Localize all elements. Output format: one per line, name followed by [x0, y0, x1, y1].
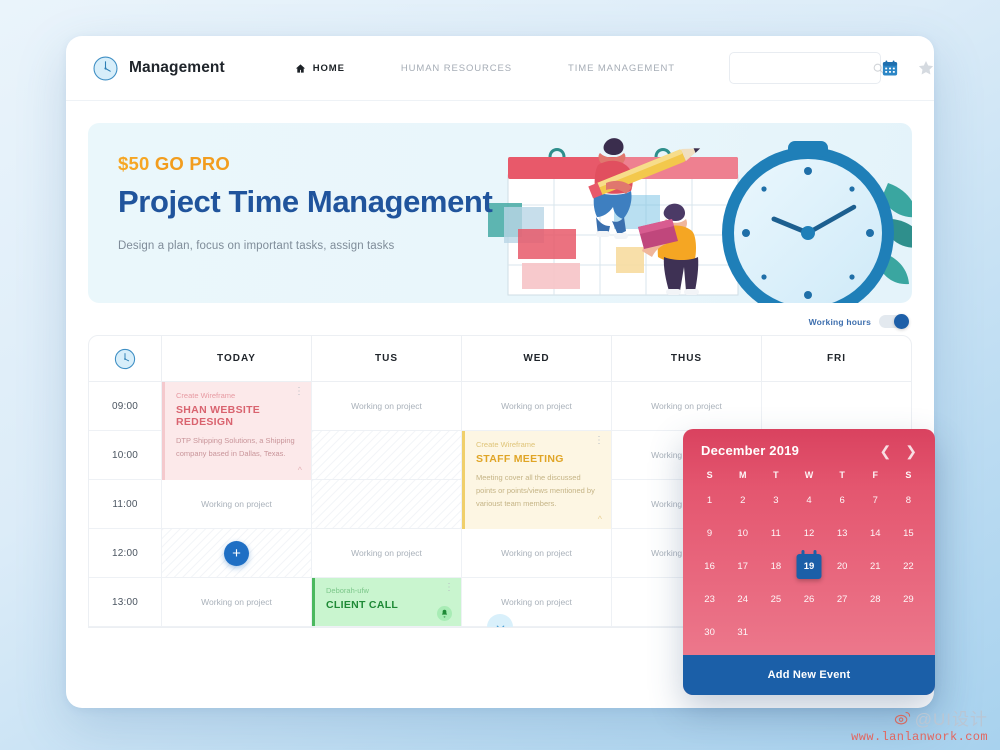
brand-name: Management — [129, 59, 225, 77]
add-event-button[interactable]: + — [224, 541, 249, 566]
time-label: 13:00 — [89, 578, 161, 626]
selected-day-box: 19 — [796, 554, 821, 579]
calendar-day[interactable]: 10 — [726, 525, 759, 543]
slot-tus-1200[interactable]: Working on project — [311, 529, 461, 577]
calendar-day[interactable]: 12 — [792, 525, 825, 543]
schedule-col-tus[interactable]: TUS — [311, 336, 461, 381]
calendar-day[interactable]: 8 — [892, 492, 925, 510]
dow-thu: T — [826, 470, 859, 480]
chevron-up-icon[interactable]: ^ — [598, 514, 602, 524]
dow-fri: F — [859, 470, 892, 480]
kebab-icon[interactable]: ⋮ — [294, 389, 304, 395]
calendar-day[interactable]: 23 — [693, 591, 726, 609]
nav-item-time-management[interactable]: TIME MANAGEMENT — [540, 63, 703, 74]
calendar-day[interactable]: 18 — [759, 558, 792, 576]
dow-sun: S — [693, 470, 726, 480]
nav-item-human-resources[interactable]: HUMAN RESOURCES — [373, 63, 540, 74]
schedule-col-fri[interactable]: FRI — [761, 336, 911, 381]
time-label: 09:00 — [89, 382, 161, 430]
calendar-day[interactable]: 9 — [693, 525, 726, 543]
calendar-day[interactable]: 21 — [859, 558, 892, 576]
event-staff-meeting[interactable]: ⋮ Create Wireframe STAFF MEETING Meeting… — [462, 431, 611, 529]
selected-day-number: 19 — [804, 558, 815, 576]
event-title: SHAN WEBSITE REDESIGN — [176, 404, 301, 428]
watermark-top-text: @UI设计 — [915, 705, 988, 730]
calendar-day[interactable]: 17 — [726, 558, 759, 576]
calendar-week-row: 1 2 3 4 6 7 8 — [683, 490, 935, 523]
bell-icon[interactable] — [437, 606, 452, 621]
slot-thus-0900[interactable]: Working on project — [611, 382, 761, 430]
time-label: 11:00 — [89, 480, 161, 528]
chevron-right-icon[interactable]: ❯ — [905, 444, 917, 458]
schedule-col-today[interactable]: TODAY — [161, 336, 311, 381]
slot-fri-0900[interactable] — [761, 382, 911, 430]
main-nav: HOME HUMAN RESOURCES TIME MANAGEMENT — [267, 63, 703, 74]
toggle-knob — [894, 314, 909, 329]
nav-item-home-label: HOME — [313, 63, 345, 74]
search-input[interactable] — [740, 63, 872, 74]
hero-price: $50 — [118, 153, 149, 174]
calendar-day[interactable]: 30 — [693, 624, 726, 642]
calendar-day[interactable]: 6 — [826, 492, 859, 510]
slot-tus-1300[interactable]: ⋮ Deborah-ufw CLIENT CALL — [311, 578, 461, 626]
slot-tus-0900[interactable]: Working on project — [311, 382, 461, 430]
slot-wed-1200[interactable]: Working on project — [461, 529, 611, 577]
calendar-day[interactable]: 29 — [892, 591, 925, 609]
clock-icon — [113, 347, 137, 371]
schedule-header-row: TODAY TUS WED THUS FRI — [89, 336, 911, 382]
app-header: Management HOME HUMAN RESOURCES TIME MAN… — [66, 36, 934, 101]
calendar-title: December 2019 — [701, 443, 799, 458]
hero-kicker: $50 GO PRO — [118, 153, 492, 175]
chevron-up-icon[interactable]: ^ — [298, 465, 302, 475]
working-hours-label: Working hours — [809, 317, 871, 327]
slot-tus-1000[interactable] — [311, 431, 461, 479]
calendar-day[interactable]: 24 — [726, 591, 759, 609]
event-client-call[interactable]: ⋮ Deborah-ufw CLIENT CALL — [312, 578, 461, 626]
slot-tus-1100[interactable] — [311, 480, 461, 528]
calendar-day[interactable]: 1 — [693, 492, 726, 510]
hero-text: $50 GO PRO Project Time Management Desig… — [118, 153, 492, 252]
calendar-icon[interactable] — [881, 59, 899, 77]
calendar-day[interactable]: 13 — [826, 525, 859, 543]
calendar-day[interactable]: 31 — [726, 624, 759, 642]
hero-banner: $50 GO PRO Project Time Management Desig… — [88, 123, 912, 303]
slot-today-0900[interactable]: ⋮ Create Wireframe SHAN WEBSITE REDESIGN… — [161, 382, 311, 430]
schedule-clock-cell — [89, 336, 161, 381]
time-label: 12:00 — [89, 529, 161, 577]
time-label: 10:00 — [89, 431, 161, 479]
chevron-left-icon[interactable]: ❮ — [880, 444, 892, 458]
calendar-header: December 2019 ❮ ❯ — [683, 429, 935, 470]
search-box[interactable] — [729, 52, 881, 84]
slot-wed-1300[interactable]: Working on project — [461, 578, 611, 626]
kebab-icon[interactable]: ⋮ — [594, 438, 604, 444]
home-icon — [295, 63, 306, 74]
calendar-weekday-row: S M T W T F S — [683, 470, 935, 490]
calendar-day[interactable]: 2 — [726, 492, 759, 510]
slot-today-1200[interactable]: + — [161, 529, 311, 577]
calendar-navs: ❮ ❯ — [880, 444, 917, 458]
brand[interactable]: Management — [92, 55, 225, 82]
calendar-day[interactable]: 20 — [826, 558, 859, 576]
time-management-illustration — [488, 123, 912, 303]
hero-title: Project Time Management — [118, 184, 492, 220]
slot-today-1100[interactable]: Working on project — [161, 480, 311, 528]
calendar-day[interactable]: 25 — [759, 591, 792, 609]
calendar-day[interactable]: 7 — [859, 492, 892, 510]
calendar-day[interactable]: 11 — [759, 525, 792, 543]
slot-wed-1000[interactable]: ⋮ Create Wireframe STAFF MEETING Meeting… — [461, 431, 611, 479]
header-actions — [881, 54, 934, 83]
dow-tue: T — [759, 470, 792, 480]
dow-wed: W — [792, 470, 825, 480]
calendar-day[interactable]: 16 — [693, 558, 726, 576]
kebab-icon[interactable]: ⋮ — [444, 585, 454, 591]
event-subtitle: Create Wireframe — [476, 440, 601, 449]
watermark-top: @UI设计 — [851, 705, 988, 730]
calendar-day[interactable]: 28 — [859, 591, 892, 609]
schedule-col-thus[interactable]: THUS — [611, 336, 761, 381]
event-shan-website-redesign[interactable]: ⋮ Create Wireframe SHAN WEBSITE REDESIGN… — [162, 382, 311, 480]
calendar-day[interactable]: 26 — [792, 591, 825, 609]
hero-pro-label: GO PRO — [155, 153, 230, 174]
calendar-day[interactable]: 27 — [826, 591, 859, 609]
event-description: Meeting cover all the discussed points o… — [476, 471, 601, 510]
event-title: STAFF MEETING — [476, 453, 601, 465]
dow-sat: S — [892, 470, 925, 480]
add-new-event-button[interactable]: Add New Event — [683, 655, 935, 695]
watermark: @UI设计 www.lanlanwork.com — [851, 705, 988, 744]
schedule-col-wed[interactable]: WED — [461, 336, 611, 381]
event-subtitle: Create Wireframe — [176, 391, 301, 400]
calendar-day[interactable]: 22 — [892, 558, 925, 576]
event-description: DTP Shipping Solutions, a Shipping compa… — [176, 434, 301, 460]
star-icon[interactable] — [917, 59, 934, 77]
calendar-popover: December 2019 ❮ ❯ S M T W T F S 1 2 3 4 … — [683, 429, 935, 695]
weibo-icon — [894, 709, 911, 726]
event-title: CLIENT CALL — [326, 599, 451, 611]
working-hours-toggle[interactable] — [879, 315, 906, 328]
calendar-week-row: 9 10 11 12 13 14 15 — [683, 523, 935, 556]
calendar-week-row: 30 31 — [683, 622, 935, 655]
slot-today-1300[interactable]: Working on project — [161, 578, 311, 626]
calendar-day[interactable]: 3 — [759, 492, 792, 510]
dow-mon: M — [726, 470, 759, 480]
schedule-row: 09:00 ⋮ Create Wireframe SHAN WEBSITE RE… — [89, 382, 911, 431]
calendar-day-selected[interactable]: 19 — [792, 558, 825, 576]
calendar-day[interactable]: 14 — [859, 525, 892, 543]
clock-logo-icon — [92, 55, 119, 82]
calendar-week-row: 23 24 25 26 27 28 29 — [683, 589, 935, 622]
working-hours-row: Working hours — [66, 315, 906, 328]
calendar-day[interactable]: 4 — [792, 492, 825, 510]
calendar-day[interactable]: 15 — [892, 525, 925, 543]
calendar-week-row: 16 17 18 19 20 21 22 — [683, 556, 935, 589]
watermark-bottom: www.lanlanwork.com — [851, 730, 988, 744]
event-subtitle: Deborah-ufw — [326, 586, 451, 595]
hero-subtitle: Design a plan, focus on important tasks,… — [118, 240, 492, 252]
nav-item-home[interactable]: HOME — [267, 63, 373, 74]
slot-wed-0900[interactable]: Working on project — [461, 382, 611, 430]
